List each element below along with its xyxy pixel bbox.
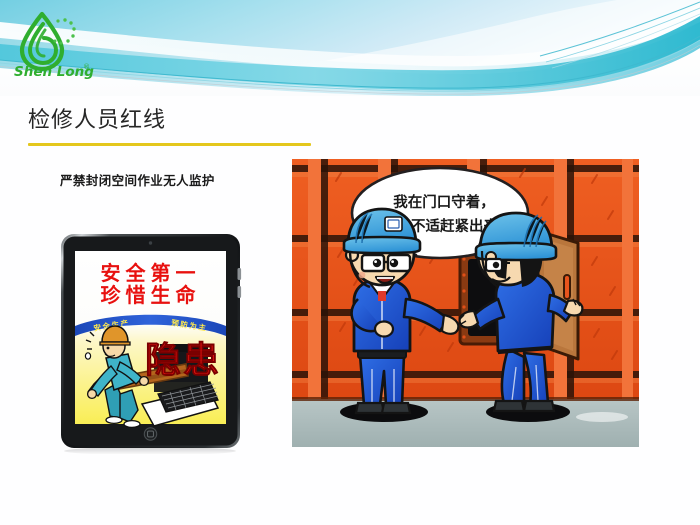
shen-long-logo-icon: Shen Long ®: [12, 8, 98, 80]
poster-headline-line1: 安全第一: [101, 261, 201, 285]
tablet-camera-icon: [149, 241, 152, 244]
title-underline-rule: [28, 143, 311, 146]
floor: [292, 399, 639, 447]
tablet-home-button[interactable]: [144, 428, 156, 440]
page-title: 检修人员红线: [28, 108, 328, 134]
poster-headline-line2: 珍惜生命: [101, 283, 201, 307]
confined-space-cartoon-graphic: 我在门口守着， 身体不适赶紧出来: [292, 159, 639, 447]
tablet-side-button: [238, 268, 242, 280]
cartoon-illustration: 我在门口守着， 身体不适赶紧出来: [292, 159, 639, 447]
tablet-illustration: 安全第一 珍惜生命 安全生产 预防为主: [58, 232, 243, 454]
title-block: 检修人员红线: [28, 108, 328, 146]
hatch-door-handle[interactable]: [564, 275, 570, 299]
slide-canvas: Shen Long ® 检修人员红线 严禁封闭空间作业无人监护: [0, 0, 700, 525]
tablet-shadow: [64, 447, 236, 454]
tablet-side-button: [238, 286, 242, 298]
poster-headline: 安全第一 珍惜生命: [101, 261, 201, 307]
speech-line-1: 我在门口守着，: [393, 193, 495, 211]
floor-highlight: [576, 412, 628, 422]
poster-big-word: 隐患: [145, 340, 221, 381]
logo-registered-mark: ®: [83, 63, 90, 71]
logo: Shen Long ®: [12, 8, 98, 80]
subtitle: 严禁封闭空间作业无人监护: [60, 170, 290, 189]
tablet-device-graphic: 安全第一 珍惜生命 安全生产 预防为主: [58, 232, 243, 454]
banner-swoosh-graphic: [0, 0, 700, 96]
header-banner: [0, 0, 700, 96]
